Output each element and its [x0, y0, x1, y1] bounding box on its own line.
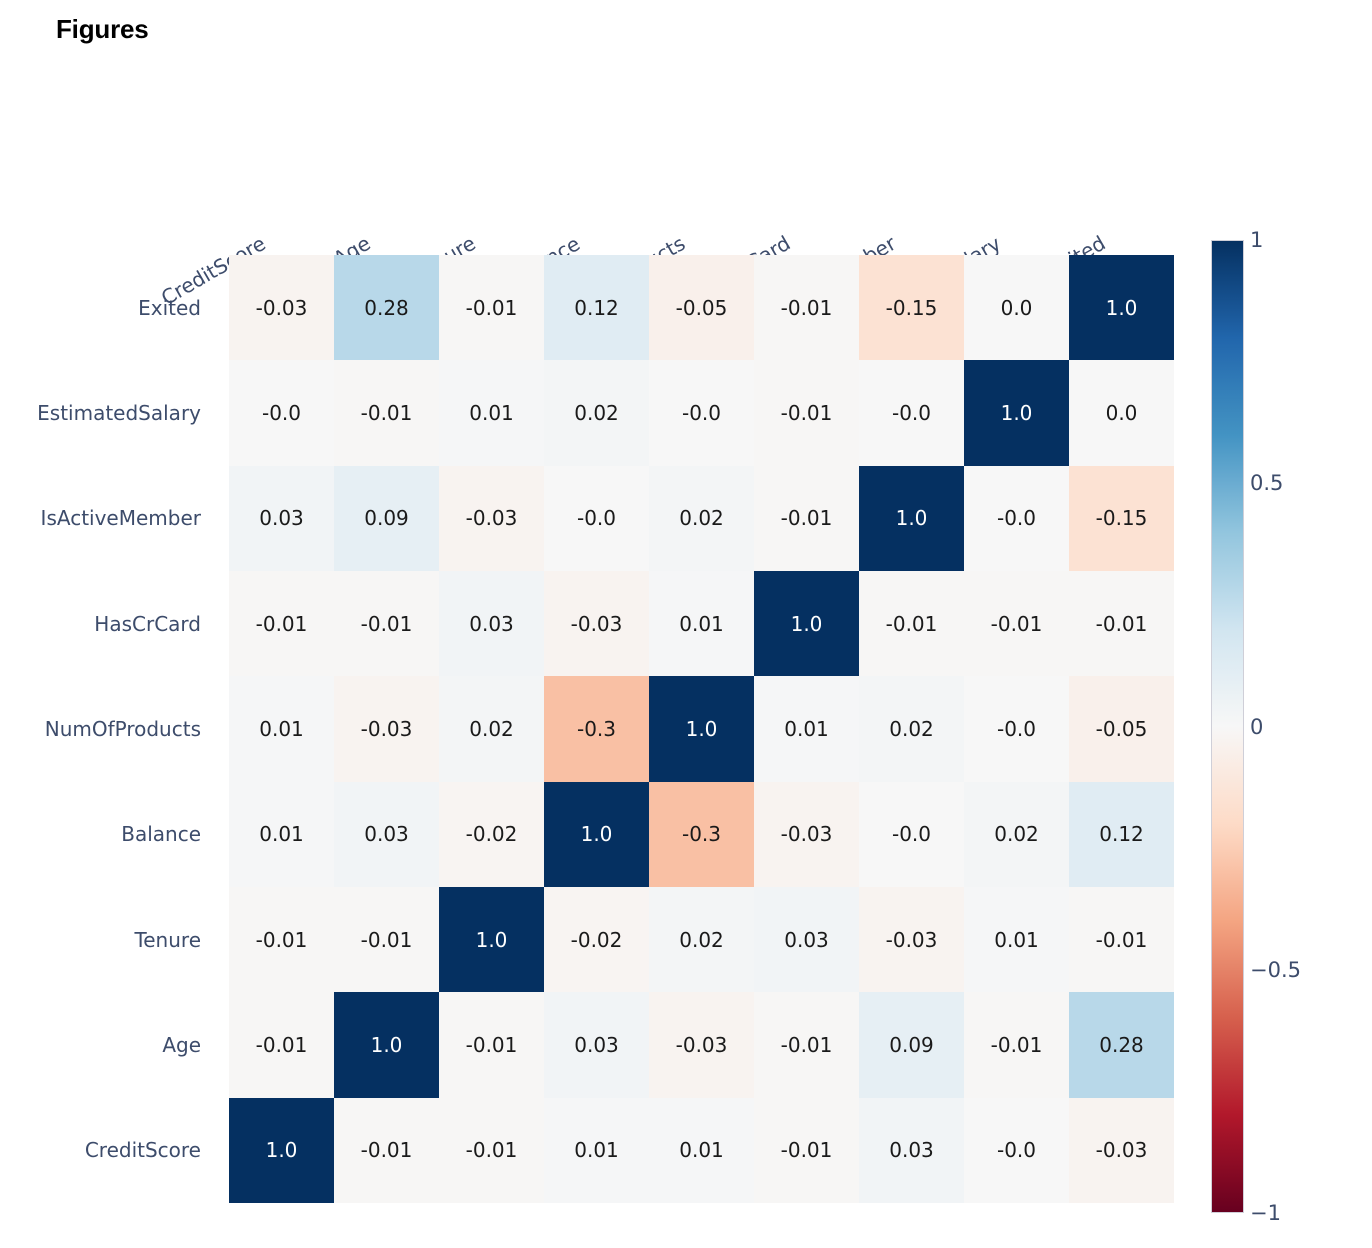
- heatmap-cell: -0.0: [649, 360, 754, 465]
- heatmap-cell: -0.01: [334, 571, 439, 676]
- heatmap-cell-value: 0.03: [364, 822, 409, 846]
- heatmap-cell-value: -0.15: [1096, 506, 1148, 530]
- heatmap-cell: -0.01: [754, 360, 859, 465]
- heatmap-cell: 0.03: [859, 1098, 964, 1203]
- heatmap-cell: 0.02: [544, 360, 649, 465]
- heatmap-cell: -0.01: [964, 992, 1069, 1097]
- heatmap-cell: -0.05: [1069, 676, 1174, 781]
- heatmap-cell: 1.0: [754, 571, 859, 676]
- heatmap-cell: -0.0: [229, 360, 334, 465]
- heatmap-cell: 0.03: [334, 782, 439, 887]
- heatmap-cell-value: -0.0: [997, 1138, 1036, 1162]
- heatmap-cell: 0.0: [964, 255, 1069, 360]
- heatmap-cell-value: -0.0: [577, 506, 616, 530]
- heatmap-cell-value: -0.02: [466, 822, 518, 846]
- heatmap-row-label: CreditScore: [0, 1098, 215, 1203]
- heatmap-cell: 0.03: [754, 887, 859, 992]
- heatmap-cell-value: 1.0: [1001, 401, 1033, 425]
- heatmap-cell: -0.03: [229, 255, 334, 360]
- heatmap-cell-value: -0.01: [1096, 928, 1148, 952]
- heatmap-cell-value: 1.0: [266, 1138, 298, 1162]
- heatmap-cell: 0.02: [649, 887, 754, 992]
- heatmap-cell-value: -0.0: [997, 717, 1036, 741]
- heatmap-cell: -0.01: [334, 360, 439, 465]
- heatmap-cell: -0.15: [859, 255, 964, 360]
- heatmap-cell: 0.01: [439, 360, 544, 465]
- heatmap-cell-value: 1.0: [896, 506, 928, 530]
- heatmap-cell-value: 0.02: [994, 822, 1039, 846]
- heatmap-cell: 0.01: [544, 1098, 649, 1203]
- heatmap-row-labels: ExitedEstimatedSalaryIsActiveMemberHasCr…: [0, 255, 215, 1203]
- heatmap-cell: -0.0: [964, 676, 1069, 781]
- heatmap-cell: 0.02: [859, 676, 964, 781]
- heatmap-cell: -0.01: [334, 887, 439, 992]
- heatmap-cell: 1.0: [544, 782, 649, 887]
- heatmap-cell: -0.01: [754, 466, 859, 571]
- heatmap-cell-value: 0.03: [889, 1138, 934, 1162]
- heatmap-cell-value: -0.0: [682, 401, 721, 425]
- heatmap-cell: 0.12: [544, 255, 649, 360]
- heatmap-row-label: Exited: [0, 255, 215, 360]
- heatmap-cell-value: -0.3: [682, 822, 721, 846]
- heatmap-cell: 0.28: [1069, 992, 1174, 1097]
- heatmap-cell-value: 0.02: [679, 928, 724, 952]
- heatmap-cell: -0.01: [754, 255, 859, 360]
- heatmap-cell-value: -0.01: [256, 1033, 308, 1057]
- heatmap-cell: -0.15: [1069, 466, 1174, 571]
- heatmap-cell-value: 0.02: [889, 717, 934, 741]
- heatmap-row-label: Tenure: [0, 887, 215, 992]
- heatmap-cell-value: -0.01: [886, 612, 938, 636]
- heatmap-cell-value: -0.15: [886, 296, 938, 320]
- heatmap-cell: -0.03: [649, 992, 754, 1097]
- heatmap-cell: -0.01: [1069, 571, 1174, 676]
- heatmap-cell: -0.03: [439, 466, 544, 571]
- heatmap-cell-value: 0.03: [574, 1033, 619, 1057]
- heatmap-cell-value: -0.01: [781, 1138, 833, 1162]
- heatmap-cell-value: 0.01: [784, 717, 829, 741]
- heatmap-cell-value: 0.02: [574, 401, 619, 425]
- heatmap-cell-value: -0.3: [577, 717, 616, 741]
- heatmap-cell: -0.03: [1069, 1098, 1174, 1203]
- heatmap-cell: 0.01: [649, 1098, 754, 1203]
- heatmap-cell-value: 1.0: [686, 717, 718, 741]
- heatmap-cell-value: -0.03: [361, 717, 413, 741]
- heatmap-cell: -0.01: [439, 1098, 544, 1203]
- heatmap-cell: 0.28: [334, 255, 439, 360]
- heatmap-cell-value: -0.01: [361, 928, 413, 952]
- heatmap-cell-value: -0.01: [466, 296, 518, 320]
- heatmap-cell-value: 0.01: [259, 822, 304, 846]
- heatmap-cell: -0.03: [334, 676, 439, 781]
- heatmap-cell-value: 1.0: [1106, 296, 1138, 320]
- heatmap-cell-value: 0.0: [1106, 401, 1138, 425]
- heatmap-cell: 0.02: [649, 466, 754, 571]
- heatmap-cell-value: 0.12: [574, 296, 619, 320]
- heatmap-cell: -0.01: [754, 992, 859, 1097]
- heatmap-cell-value: 0.01: [259, 717, 304, 741]
- heatmap-cell: 1.0: [649, 676, 754, 781]
- heatmap-cell: 0.02: [439, 676, 544, 781]
- heatmap-cell-value: -0.01: [466, 1138, 518, 1162]
- heatmap-cell-value: -0.01: [466, 1033, 518, 1057]
- heatmap-cell-value: 0.01: [574, 1138, 619, 1162]
- heatmap-row-label: Age: [0, 992, 215, 1097]
- heatmap-cell-value: -0.01: [361, 401, 413, 425]
- heatmap-cell: -0.01: [229, 887, 334, 992]
- colorbar-tick-label: 0: [1250, 715, 1263, 739]
- heatmap-cell-value: 0.03: [469, 612, 514, 636]
- colorbar-tick-labels: 10.50−0.5−1: [1250, 240, 1340, 1213]
- heatmap-row-label: NumOfProducts: [0, 676, 215, 781]
- heatmap-cell: -0.02: [544, 887, 649, 992]
- heatmap-cell: 0.0: [1069, 360, 1174, 465]
- heatmap-cell-value: -0.0: [892, 401, 931, 425]
- heatmap-cell: 1.0: [229, 1098, 334, 1203]
- heatmap-cell-value: 1.0: [581, 822, 613, 846]
- heatmap-cell-value: -0.01: [1096, 612, 1148, 636]
- colorbar-tick-label: −1: [1250, 1201, 1281, 1225]
- heatmap-cell: -0.0: [544, 466, 649, 571]
- heatmap-cell-value: -0.01: [256, 612, 308, 636]
- heatmap-cell-value: 0.09: [889, 1033, 934, 1057]
- heatmap-cell-value: -0.02: [571, 928, 623, 952]
- heatmap-cell: -0.05: [649, 255, 754, 360]
- heatmap-cell-value: -0.03: [781, 822, 833, 846]
- heatmap-cell-value: -0.01: [781, 401, 833, 425]
- heatmap-cell: 0.03: [544, 992, 649, 1097]
- heatmap-cell: -0.01: [754, 1098, 859, 1203]
- heatmap-cell: 0.01: [754, 676, 859, 781]
- heatmap-cell-value: -0.01: [991, 1033, 1043, 1057]
- heatmap-cell: -0.0: [859, 360, 964, 465]
- heatmap-cell: -0.01: [1069, 887, 1174, 992]
- colorbar-tick-label: 0.5: [1250, 471, 1283, 495]
- heatmap-cell-value: 0.02: [679, 506, 724, 530]
- heatmap-row-label: EstimatedSalary: [0, 360, 215, 465]
- heatmap-cell: 0.02: [964, 782, 1069, 887]
- heatmap-cell: 0.01: [964, 887, 1069, 992]
- heatmap-cell: 1.0: [1069, 255, 1174, 360]
- heatmap-cell: -0.02: [439, 782, 544, 887]
- heatmap-cell-value: -0.03: [256, 296, 308, 320]
- heatmap-cell-value: -0.03: [676, 1033, 728, 1057]
- heatmap-cell: -0.3: [544, 676, 649, 781]
- heatmap-cell: 0.03: [229, 466, 334, 571]
- heatmap-row-label: HasCrCard: [0, 571, 215, 676]
- heatmap-cell-value: -0.05: [676, 296, 728, 320]
- heatmap-cell-value: 0.01: [469, 401, 514, 425]
- heatmap-cell-value: 1.0: [791, 612, 823, 636]
- heatmap-row-label: Balance: [0, 782, 215, 887]
- heatmap-cell-grid: -0.030.28-0.010.12-0.05-0.01-0.150.01.0-…: [229, 255, 1174, 1203]
- heatmap-cell-value: -0.01: [991, 612, 1043, 636]
- heatmap-cell: 1.0: [334, 992, 439, 1097]
- heatmap-cell: -0.01: [334, 1098, 439, 1203]
- heatmap-cell: 0.01: [229, 676, 334, 781]
- heatmap-cell: 1.0: [859, 466, 964, 571]
- heatmap-cell: 0.09: [859, 992, 964, 1097]
- heatmap-cell-value: 0.03: [784, 928, 829, 952]
- heatmap-cell-value: -0.0: [262, 401, 301, 425]
- heatmap-cell-value: 0.01: [679, 612, 724, 636]
- heatmap-cell: 0.09: [334, 466, 439, 571]
- heatmap-cell: -0.0: [964, 466, 1069, 571]
- heatmap-cell: 1.0: [964, 360, 1069, 465]
- colorbar-gradient: [1212, 241, 1243, 1212]
- heatmap-cell-value: -0.01: [781, 1033, 833, 1057]
- heatmap-cell-value: -0.01: [256, 928, 308, 952]
- heatmap-cell-value: -0.01: [361, 1138, 413, 1162]
- heatmap-cell: 1.0: [439, 887, 544, 992]
- heatmap-cell: -0.01: [439, 992, 544, 1097]
- heatmap-cell-value: 0.09: [364, 506, 409, 530]
- heatmap-cell-value: -0.01: [361, 612, 413, 636]
- heatmap-cell-value: -0.03: [571, 612, 623, 636]
- heatmap-cell-value: 0.12: [1099, 822, 1144, 846]
- heatmap-cell: 0.03: [439, 571, 544, 676]
- heatmap-cell: 0.01: [229, 782, 334, 887]
- heatmap-cell-value: -0.0: [892, 822, 931, 846]
- heatmap-cell-value: 0.01: [994, 928, 1039, 952]
- heatmap-cell-value: 0.28: [364, 296, 409, 320]
- heatmap-cell-value: 1.0: [476, 928, 508, 952]
- heatmap-cell: -0.01: [229, 571, 334, 676]
- heatmap-cell-value: -0.03: [1096, 1138, 1148, 1162]
- heatmap-cell-value: 0.03: [259, 506, 304, 530]
- heatmap-cell: -0.03: [859, 887, 964, 992]
- heatmap-cell-value: -0.03: [466, 506, 518, 530]
- heatmap-cell: 0.01: [649, 571, 754, 676]
- heatmap-cell-value: 1.0: [371, 1033, 403, 1057]
- colorbar-tick-label: −0.5: [1250, 958, 1301, 982]
- heatmap-cell: -0.01: [964, 571, 1069, 676]
- heatmap-cell: -0.0: [859, 782, 964, 887]
- heatmap-cell: -0.01: [439, 255, 544, 360]
- correlation-heatmap-figure: CreditScoreAgeTenureBalanceNumOfProducts…: [0, 0, 1372, 1248]
- heatmap-cell-value: -0.01: [781, 506, 833, 530]
- colorbar-tick-label: 1: [1250, 228, 1263, 252]
- heatmap-cell: -0.03: [754, 782, 859, 887]
- heatmap-cell-value: -0.03: [886, 928, 938, 952]
- heatmap-cell: -0.3: [649, 782, 754, 887]
- heatmap-cell-value: 0.01: [679, 1138, 724, 1162]
- colorbar: [1211, 240, 1244, 1213]
- heatmap-cell-value: 0.0: [1001, 296, 1033, 320]
- heatmap-cell: -0.01: [229, 992, 334, 1097]
- heatmap-cell-value: -0.0: [997, 506, 1036, 530]
- heatmap-cell: -0.01: [859, 571, 964, 676]
- heatmap-cell-value: -0.01: [781, 296, 833, 320]
- heatmap-cell-value: -0.05: [1096, 717, 1148, 741]
- heatmap-cell-value: 0.02: [469, 717, 514, 741]
- heatmap-cell: -0.03: [544, 571, 649, 676]
- heatmap-row-label: IsActiveMember: [0, 466, 215, 571]
- heatmap-cell: 0.12: [1069, 782, 1174, 887]
- heatmap-cell: -0.0: [964, 1098, 1069, 1203]
- heatmap-cell-value: 0.28: [1099, 1033, 1144, 1057]
